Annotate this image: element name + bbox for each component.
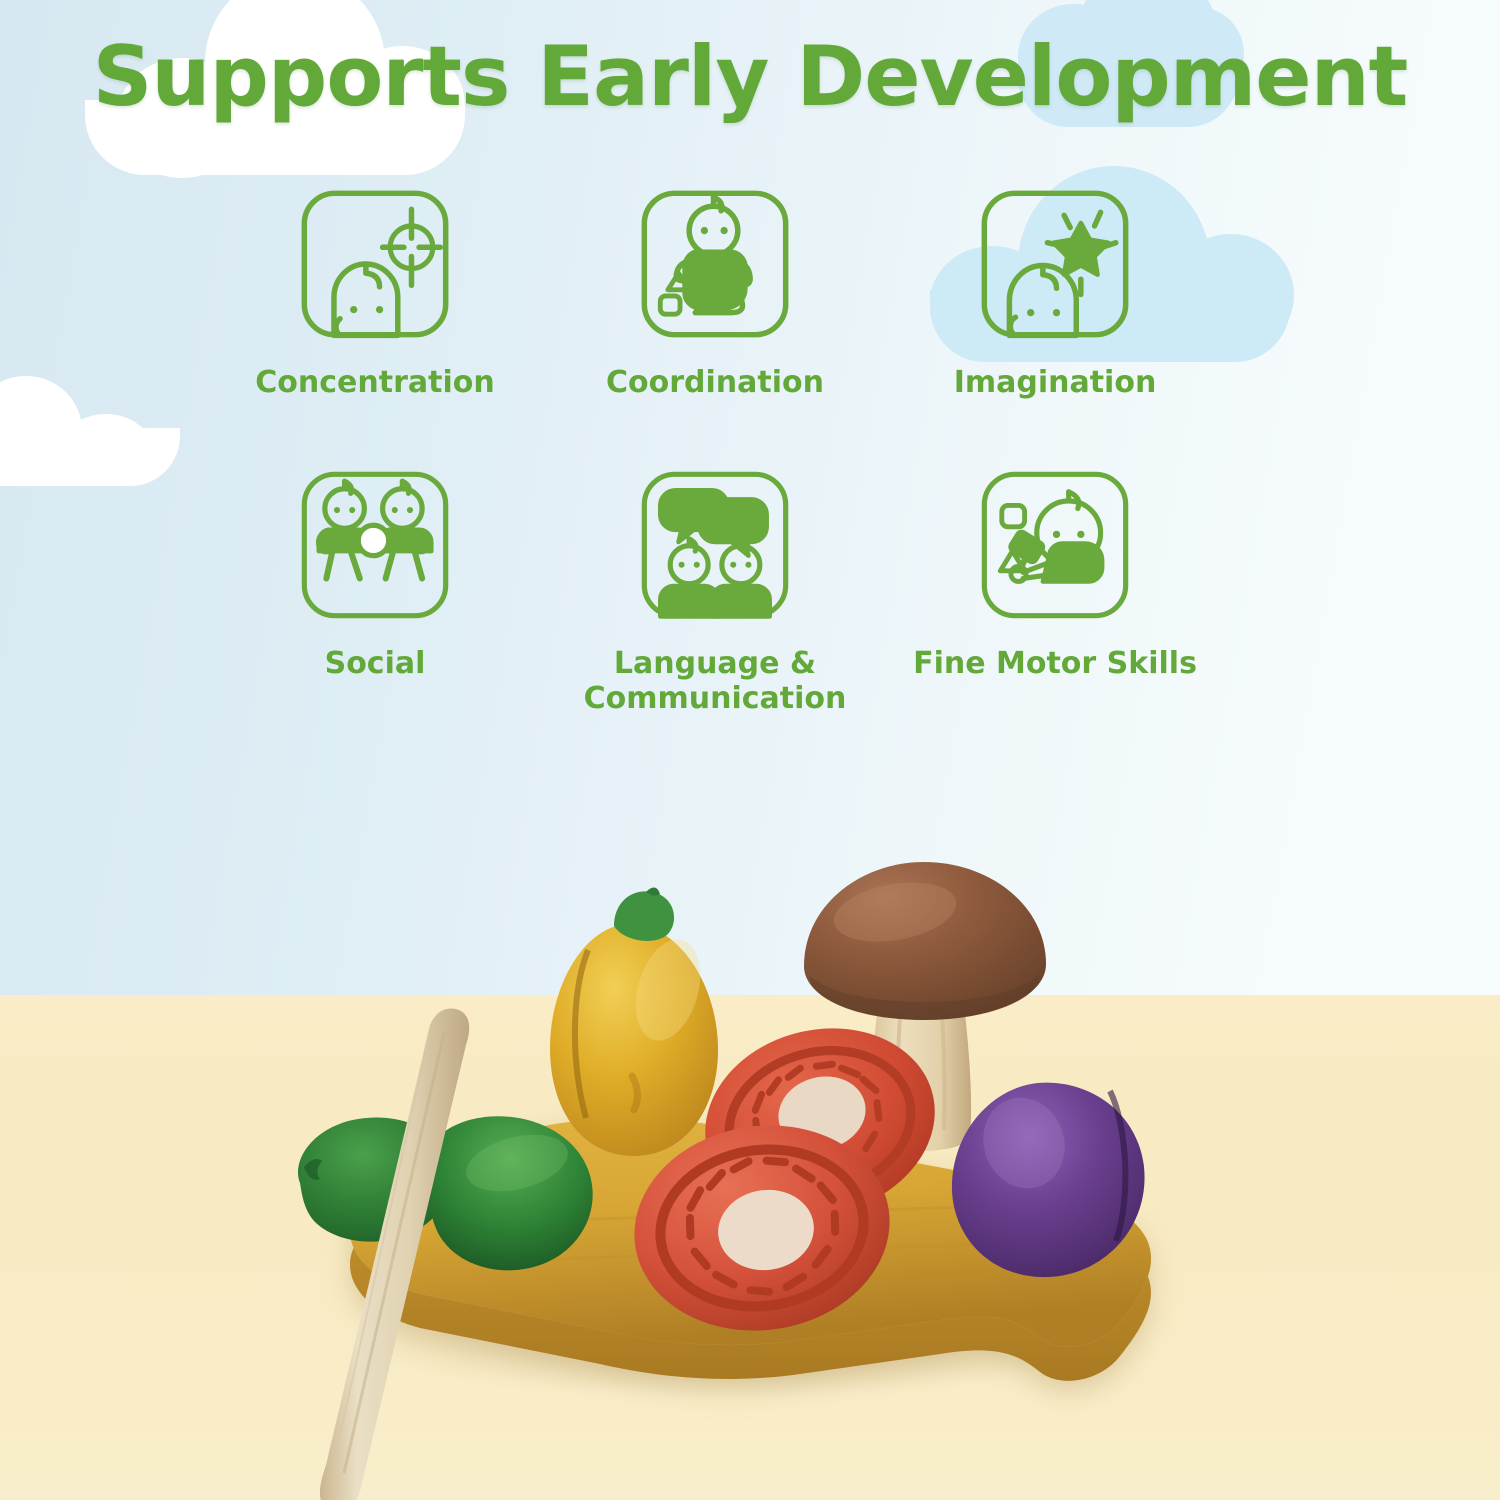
feature-fine-motor-skills: Fine Motor Skills [885,469,1225,717]
purple-eggplant-toy [940,1075,1160,1290]
feature-label: Concentration [255,366,494,401]
red-tomato-slice-front [630,1120,895,1335]
feature-social: Social [205,469,545,717]
fine-motor-skills-icon [979,469,1131,621]
wooden-knife [318,1005,498,1500]
language-communication-icon [639,469,791,621]
feature-concentration: Concentration [205,188,545,401]
feature-grid: Concentration [205,188,1295,716]
white-cloud-mid-left [0,378,180,486]
promo-image: Supports Early Development [0,0,1500,1500]
concentration-icon [299,188,451,340]
page-title: Supports Early Development [0,28,1500,125]
social-icon [299,469,451,621]
coordination-icon [639,188,791,340]
feature-label: Fine Motor Skills [913,647,1197,682]
feature-label: Imagination [954,366,1157,401]
feature-coordination: Coordination [545,188,885,401]
feature-label: Social [325,647,426,682]
feature-label: Coordination [606,366,824,401]
feature-imagination: Imagination [885,188,1225,401]
feature-language-communication: Language & Communication [545,469,885,717]
imagination-icon [979,188,1131,340]
feature-label: Language & Communication [584,647,847,717]
